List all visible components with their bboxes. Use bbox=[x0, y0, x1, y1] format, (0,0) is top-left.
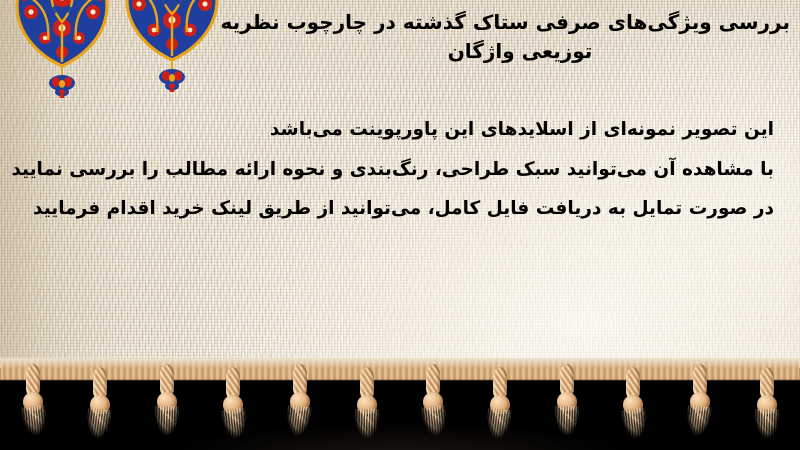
tassel-skirt bbox=[621, 408, 649, 445]
fringe-tassel bbox=[154, 364, 180, 442]
tassel-skirt bbox=[555, 406, 579, 440]
tassel-skirt bbox=[355, 409, 379, 443]
tassel-skirt bbox=[285, 405, 312, 441]
fringe-black-band bbox=[0, 368, 800, 450]
fringe-tassel bbox=[487, 367, 513, 445]
fringe-tassel bbox=[87, 367, 113, 445]
fringe-tassel bbox=[220, 367, 246, 445]
tassel-skirt bbox=[485, 408, 512, 444]
fringe-tassel bbox=[287, 364, 313, 442]
fringe-tassel bbox=[354, 367, 380, 445]
slide-body-text: این تصویر نمونه‌ای از اسلایدهای این پاور… bbox=[22, 110, 774, 229]
body-line-3: در صورت تمایل به دریافت فایل کامل، می‌تو… bbox=[22, 189, 774, 229]
tassel-skirt bbox=[685, 405, 712, 441]
fringe-tassel bbox=[754, 367, 780, 445]
tassel-skirt bbox=[21, 405, 49, 442]
presentation-slide: بررسی ویژگی‌های صرفی ستاک گذشته در چارچو… bbox=[0, 0, 800, 450]
fringe-tassel bbox=[420, 364, 446, 442]
slide-title: بررسی ویژگی‌های صرفی ستاک گذشته در چارچو… bbox=[250, 8, 790, 66]
body-line-2: با مشاهده آن می‌توانید سبک طراحی، رنگ‌بن… bbox=[22, 150, 774, 190]
fringe-tassel bbox=[620, 367, 646, 445]
title-line-2: توزیعی واژگان bbox=[250, 37, 790, 66]
tassel-skirt bbox=[421, 405, 449, 442]
tassel-skirt bbox=[155, 406, 179, 440]
fringe-tassel bbox=[20, 364, 46, 442]
tassel-skirt bbox=[221, 408, 249, 445]
tassel-skirt bbox=[85, 408, 112, 444]
fringe-tassel bbox=[554, 364, 580, 442]
title-line-1: بررسی ویژگی‌های صرفی ستاک گذشته در چارچو… bbox=[250, 8, 790, 37]
carpet-fringe bbox=[0, 358, 800, 450]
carpet-selvedge-edge bbox=[0, 358, 800, 380]
tassel-skirt bbox=[755, 409, 779, 443]
body-line-1: این تصویر نمونه‌ای از اسلایدهای این پاور… bbox=[22, 110, 774, 150]
fringe-tassel bbox=[687, 364, 713, 442]
